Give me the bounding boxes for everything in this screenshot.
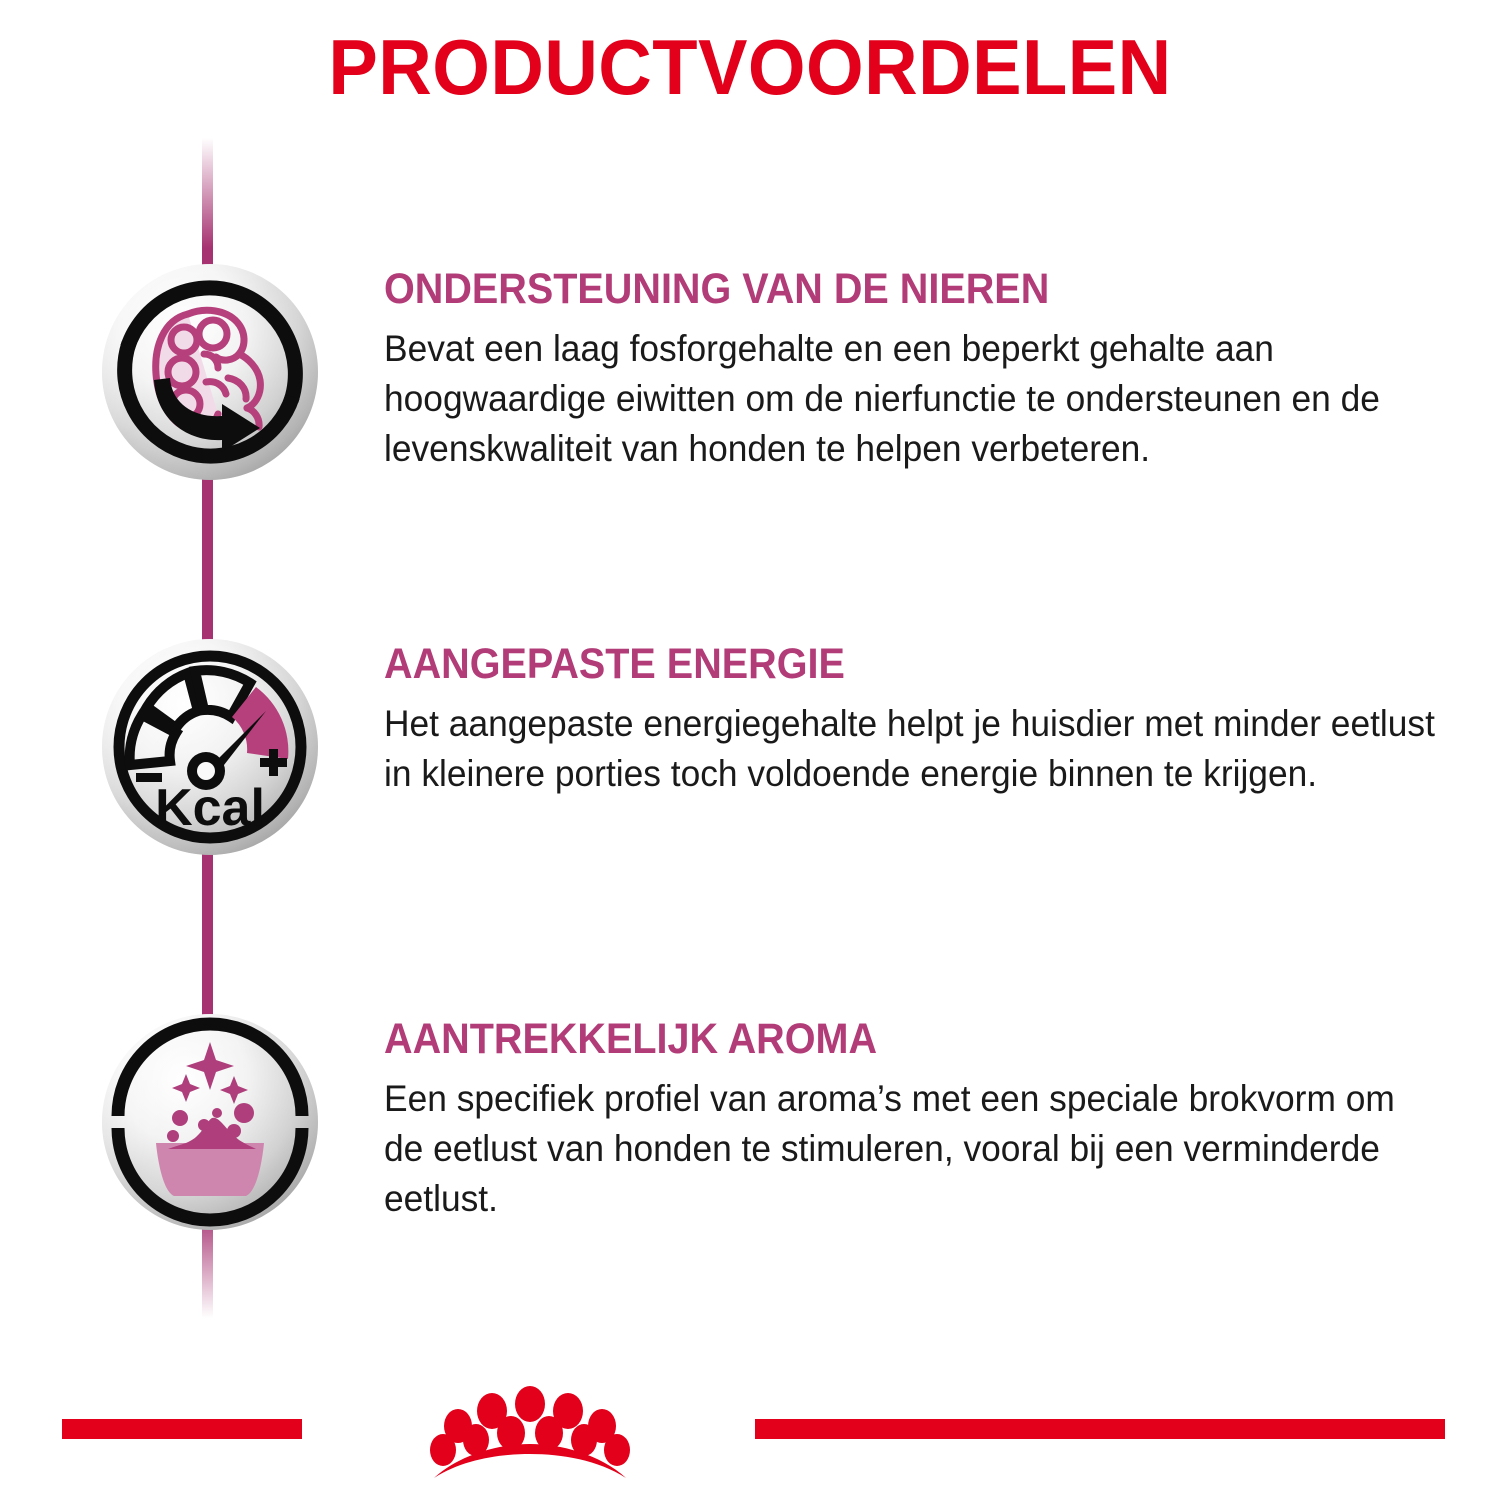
royal-canin-crown-logo: [330, 1378, 730, 1488]
adapted-energy-kcal-gauge-icon: Kcal: [100, 637, 320, 857]
benefit-body: Bevat een laag fosforgehalte en een bepe…: [384, 324, 1439, 474]
footer-rule-left: [62, 1419, 302, 1439]
benefit-text-kidney: ONDERSTEUNING VAN DE NIEREN Bevat een la…: [384, 264, 1489, 474]
gauge-kcal-label: Kcal: [155, 779, 265, 837]
benefit-body: Het aangepaste energiegehalte helpt je h…: [384, 699, 1439, 799]
appealing-aroma-bowl-icon: [100, 1012, 320, 1232]
benefit-heading: AANTREKKELIJK AROMA: [384, 1014, 1401, 1064]
product-benefits-page: PRODUCTVOORDELEN: [0, 0, 1500, 1500]
kidney-support-icon: [100, 262, 320, 482]
benefit-text-energy: AANGEPASTE ENERGIE Het aangepaste energi…: [384, 639, 1489, 799]
benefit-heading: ONDERSTEUNING VAN DE NIEREN: [384, 264, 1401, 314]
benefit-row-aroma: AANTREKKELIJK AROMA Een specifiek profie…: [0, 1012, 1500, 1252]
footer-rule-right: [755, 1419, 1445, 1439]
page-title: PRODUCTVOORDELEN: [38, 22, 1463, 113]
benefit-heading: AANGEPASTE ENERGIE: [384, 639, 1401, 689]
benefit-row-energy: Kcal AANGEPASTE ENERGIE Het aangepaste e…: [0, 637, 1500, 877]
benefit-row-kidney: ONDERSTEUNING VAN DE NIEREN Bevat een la…: [0, 262, 1500, 502]
benefit-body: Een specifiek profiel van aroma’s met ee…: [384, 1074, 1439, 1224]
benefit-text-aroma: AANTREKKELIJK AROMA Een specifiek profie…: [384, 1014, 1489, 1224]
